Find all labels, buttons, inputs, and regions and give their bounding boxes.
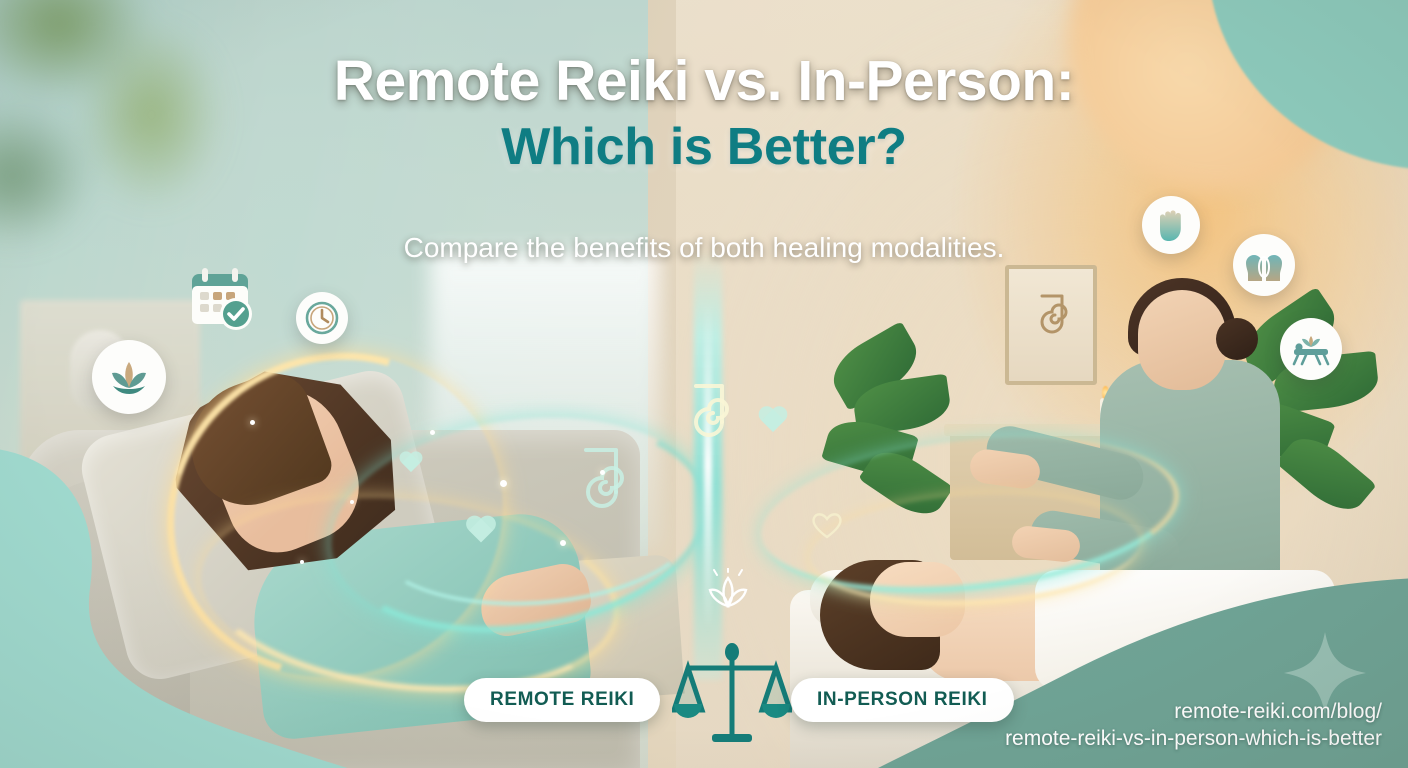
article-url[interactable]: remote-reiki.com/blog/ remote-reiki-vs-i… xyxy=(1005,699,1382,752)
reiki-comparison-banner: Remote Reiki vs. In-Person: Which is Bet… xyxy=(0,0,1408,768)
title-line-1: Remote Reiki vs. In-Person: xyxy=(0,52,1408,112)
banner-headline: Remote Reiki vs. In-Person: Which is Bet… xyxy=(0,52,1408,176)
practitioner-hair-bun xyxy=(1216,318,1258,360)
calendar-check-icon[interactable] xyxy=(182,264,258,340)
heart-icon xyxy=(464,516,498,547)
url-line-2: remote-reiki-vs-in-person-which-is-bette… xyxy=(1005,726,1382,752)
practitioner-head xyxy=(1138,290,1226,390)
sparkle xyxy=(250,420,255,425)
banner-subtitle: Compare the benefits of both healing mod… xyxy=(0,232,1408,264)
heart-icon xyxy=(757,407,790,437)
label-in-person-reiki[interactable]: IN-PERSON REIKI xyxy=(791,678,1014,722)
massage-table-icon[interactable] xyxy=(1280,318,1342,380)
label-remote-reiki[interactable]: REMOTE REIKI xyxy=(464,678,660,722)
center-light-beam-core xyxy=(704,300,712,630)
sparkle xyxy=(430,430,435,435)
lotus-icon[interactable] xyxy=(92,340,166,414)
cho-ku-rei-reiki-symbol xyxy=(1028,288,1076,350)
mint-wave-bottom-left xyxy=(0,448,410,768)
balance-scales-icon xyxy=(672,640,792,750)
sparkle xyxy=(600,470,605,475)
sparkle xyxy=(560,540,566,546)
sparkle xyxy=(500,480,507,487)
url-line-1: remote-reiki.com/blog/ xyxy=(1005,699,1382,725)
title-line-2: Which is Better? xyxy=(0,118,1408,176)
clock-icon[interactable] xyxy=(296,292,348,344)
